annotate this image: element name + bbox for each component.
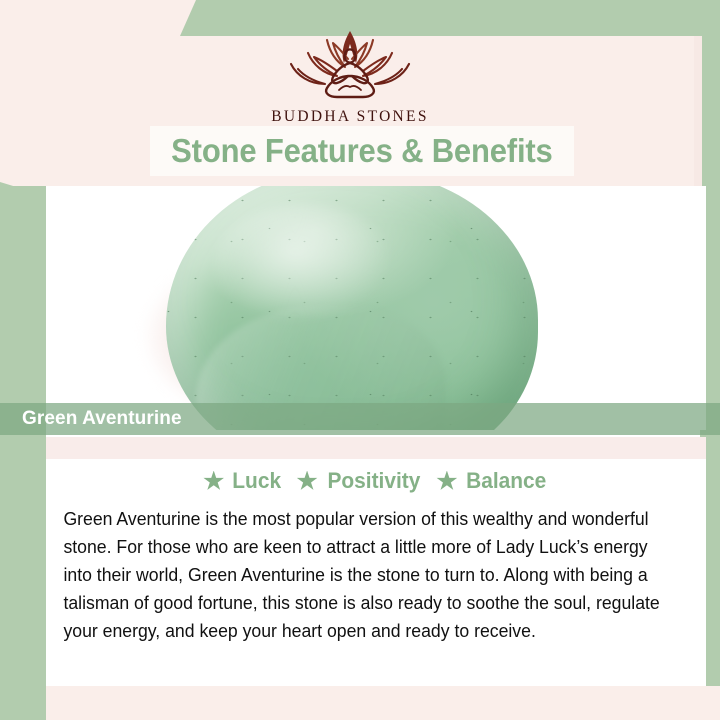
benefit-item-luck: Luck xyxy=(203,468,282,494)
benefit-item-balance: Balance xyxy=(436,468,548,494)
page-title: Stone Features & Benefits xyxy=(171,132,552,170)
star-icon xyxy=(203,471,224,492)
benefit-label-balance: Balance xyxy=(467,468,547,494)
photo-content-separator xyxy=(46,437,706,459)
title-banner: Stone Features & Benefits xyxy=(150,126,574,176)
brand-logo: BUDDHA STONES xyxy=(0,26,700,126)
stone-features-infographic: BUDDHA STONES Stone Features & Benefits … xyxy=(0,0,720,720)
bottom-cream-strip xyxy=(46,686,720,720)
brand-wordmark: BUDDHA STONES xyxy=(0,108,700,126)
header: BUDDHA STONES Stone Features & Benefits xyxy=(0,0,700,186)
benefits-list: Luck Positivity Balance xyxy=(46,459,706,494)
product-description: Green Aventurine is the most popular ver… xyxy=(46,505,686,645)
star-icon xyxy=(436,471,457,492)
star-icon xyxy=(297,471,318,492)
product-name: Green Aventurine xyxy=(22,408,182,430)
stone-highlight xyxy=(214,204,394,324)
benefit-label-positivity: Positivity xyxy=(327,468,420,494)
content-panel: Luck Positivity Balance Green Aventurine… xyxy=(46,459,706,686)
product-photo xyxy=(46,186,706,430)
lotus-meditation-figure-icon xyxy=(277,26,423,104)
benefit-label-luck: Luck xyxy=(233,468,282,494)
benefit-item-positivity: Positivity xyxy=(297,468,423,494)
left-green-accent-bar xyxy=(0,182,46,720)
product-label-band: Green Aventurine xyxy=(0,403,720,435)
